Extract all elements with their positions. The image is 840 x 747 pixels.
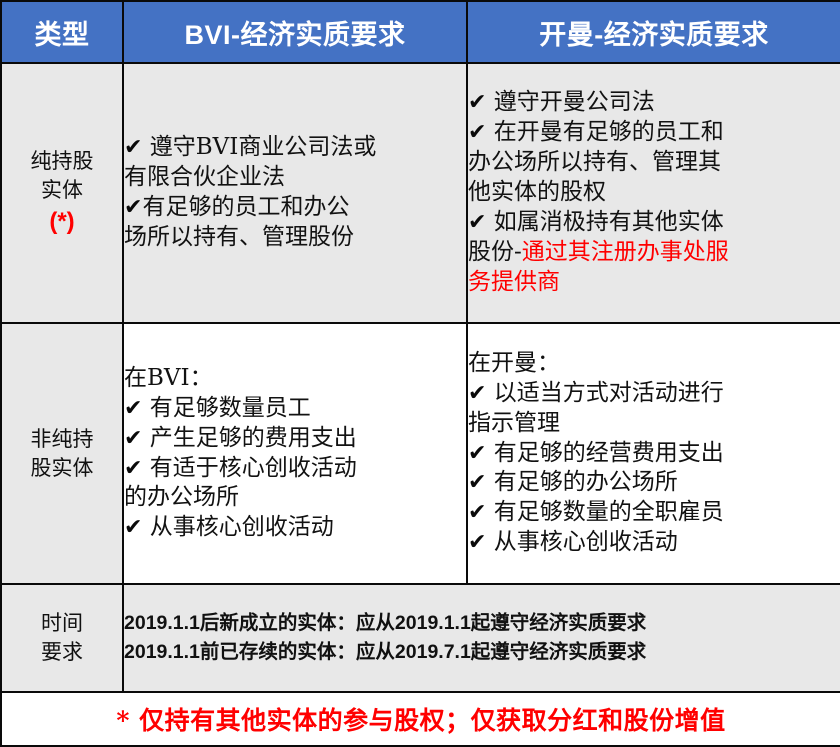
row-label-line-1: 纯持股	[2, 147, 122, 175]
bullet-text: 遵守开曼公司法	[486, 89, 654, 115]
column-header-bvi: BVI-经济实质要求	[123, 1, 467, 63]
bullet-text: 场所以持有、管理股份	[124, 224, 354, 250]
table-header-row: 类型 BVI-经济实质要求 开曼-经济实质要求	[1, 1, 840, 63]
bullet-line: ✔有足够的员工和办公	[124, 193, 466, 223]
bullet-line: 办公场所以持有、管理其	[468, 148, 840, 178]
bullet-text: 以适当方式对活动进行	[486, 380, 723, 406]
bullet-line: 他实体的股权	[468, 178, 840, 208]
bullet-text: 办公场所以持有、管理其	[468, 149, 721, 175]
bullet-line: 股份-通过其注册办事处服	[468, 238, 840, 268]
bullet-text: 指示管理	[468, 410, 560, 436]
bullet-text: 产生足够的费用支出	[142, 425, 356, 451]
table-row-non-pure-holding: 非纯持 股实体 在BVI： ✔ 有足够数量员工 ✔ 产生足够的费用支出 ✔ 有适…	[1, 323, 840, 584]
cell-bvi-pure-holding: ✔ 遵守BVI商业公司法或 有限合伙企业法 ✔有足够的员工和办公 场所以持有、管…	[123, 63, 467, 323]
table-row-pure-holding: 纯持股 实体 (*) ✔ 遵守BVI商业公司法或 有限合伙企业法 ✔有足够的员工…	[1, 63, 840, 323]
bullet-line: 的办公场所	[124, 483, 466, 513]
bullet-line: ✔ 从事核心创收活动	[468, 528, 840, 558]
bullet-line: ✔ 产生足够的费用支出	[124, 424, 466, 454]
bullet-line: 指示管理	[468, 409, 840, 439]
bullet-text: 有足够数量员工	[142, 395, 310, 421]
check-icon: ✔	[468, 120, 486, 145]
check-icon: ✔	[468, 500, 486, 525]
bullet-text: 有足够数量的全职雇员	[486, 499, 723, 525]
bullet-line: ✔ 如属消极持有其他实体	[468, 208, 840, 238]
bullet-text: 股份-	[468, 239, 522, 265]
cell-cayman-pure-holding: ✔ 遵守开曼公司法 ✔ 在开曼有足够的员工和 办公场所以持有、管理其 他实体的股…	[467, 63, 840, 323]
row-label-non-pure-holding: 非纯持 股实体	[1, 323, 123, 584]
column-header-cayman: 开曼-经济实质要求	[467, 1, 840, 63]
row-label-line-2: 股实体	[2, 454, 122, 482]
bullet-line: ✔ 有足够数量员工	[124, 394, 466, 424]
bullet-line: ✔ 有足够的经营费用支出	[468, 439, 840, 469]
bullet-text: 有足够的经营费用支出	[486, 440, 723, 466]
check-icon: ✔	[468, 530, 486, 555]
check-icon: ✔	[468, 210, 486, 235]
bullet-line: ✔ 有足够数量的全职雇员	[468, 498, 840, 528]
check-icon: ✔	[124, 515, 142, 540]
cell-intro-text: 在开曼：	[468, 349, 840, 379]
cell-bvi-non-pure-holding: 在BVI： ✔ 有足够数量员工 ✔ 产生足够的费用支出 ✔ 有适于核心创收活动 …	[123, 323, 467, 584]
bullet-line: ✔ 以适当方式对活动进行	[468, 379, 840, 409]
check-icon: ✔	[468, 441, 486, 466]
economic-substance-table-page: 瑞和律隐家义 瑞和律隐家义 瑞和律隐家义 瑞和律隐家义 瑞和律隐家义 瑞和律隐家…	[0, 0, 840, 745]
bullet-text: 有限合伙企业法	[124, 164, 285, 190]
check-icon: ✔	[124, 135, 142, 160]
bullet-line: 有限合伙企业法	[124, 163, 466, 193]
row-label-time-requirement: 时间 要求	[1, 584, 123, 692]
row-label-pure-holding: 纯持股 实体 (*)	[1, 63, 123, 323]
economic-substance-table: 类型 BVI-经济实质要求 开曼-经济实质要求 纯持股 实体 (*) ✔ 遵守B…	[0, 0, 840, 747]
check-icon: ✔	[124, 456, 142, 481]
bullet-line: ✔ 有适于核心创收活动	[124, 454, 466, 484]
table-row-time-requirement: 时间 要求 2019.1.1后新成立的实体：应从2019.1.1起遵守经济实质要…	[1, 584, 840, 692]
bullet-text: 有适于核心创收活动	[142, 455, 356, 481]
column-header-type: 类型	[1, 1, 123, 63]
bullet-line: ✔ 从事核心创收活动	[124, 513, 466, 543]
bullet-text: 从事核心创收活动	[486, 529, 677, 555]
bullet-line: ✔ 遵守BVI商业公司法或	[124, 133, 466, 163]
bullet-text: 他实体的股权	[468, 179, 606, 205]
footnote-text: * 仅持有其他实体的参与股权；仅获取分红和股份增值	[1, 692, 840, 746]
check-icon: ✔	[124, 396, 142, 421]
cell-cayman-non-pure-holding: 在开曼： ✔ 以适当方式对活动进行 指示管理 ✔ 有足够的经营费用支出 ✔ 有足…	[467, 323, 840, 584]
bullet-text: 的办公场所	[124, 484, 239, 510]
row-label-asterisk: (*)	[2, 206, 122, 238]
bullet-text-highlight: 务提供商	[468, 269, 560, 295]
table-row-footnote: * 仅持有其他实体的参与股权；仅获取分红和股份增值	[1, 692, 840, 746]
bullet-line: ✔ 遵守开曼公司法	[468, 88, 840, 118]
check-icon: ✔	[468, 470, 486, 495]
bullet-line: ✔ 有足够的办公场所	[468, 468, 840, 498]
bullet-text: 在开曼有足够的员工和	[486, 119, 723, 145]
bullet-text: 如属消极持有其他实体	[486, 209, 723, 235]
check-icon: ✔	[468, 381, 486, 406]
bullet-text: 有足够的员工和办公	[142, 194, 349, 220]
check-icon: ✔	[124, 426, 142, 451]
row-label-line-1: 时间	[2, 609, 122, 638]
time-requirement-line-2: 2019.1.1前已存续的实体：应从2019.7.1起遵守经济实质要求	[124, 638, 840, 667]
check-icon: ✔	[468, 90, 486, 115]
bullet-text: 遵守BVI商业公司法或	[142, 134, 376, 160]
row-label-line-2: 实体	[2, 176, 122, 204]
row-label-line-1: 非纯持	[2, 425, 122, 453]
bullet-text: 从事核心创收活动	[142, 514, 333, 540]
cell-time-requirement: 2019.1.1后新成立的实体：应从2019.1.1起遵守经济实质要求 2019…	[123, 584, 840, 692]
bullet-text-highlight: 通过其注册办事处服	[522, 239, 729, 265]
bullet-line: 务提供商	[468, 268, 840, 298]
bullet-line: ✔ 在开曼有足够的员工和	[468, 118, 840, 148]
check-icon: ✔	[124, 195, 142, 220]
cell-intro-text: 在BVI：	[124, 364, 466, 394]
bullet-text: 有足够的办公场所	[486, 469, 677, 495]
bullet-line: 场所以持有、管理股份	[124, 223, 466, 253]
row-label-line-2: 要求	[2, 638, 122, 667]
time-requirement-line-1: 2019.1.1后新成立的实体：应从2019.1.1起遵守经济实质要求	[124, 609, 840, 638]
